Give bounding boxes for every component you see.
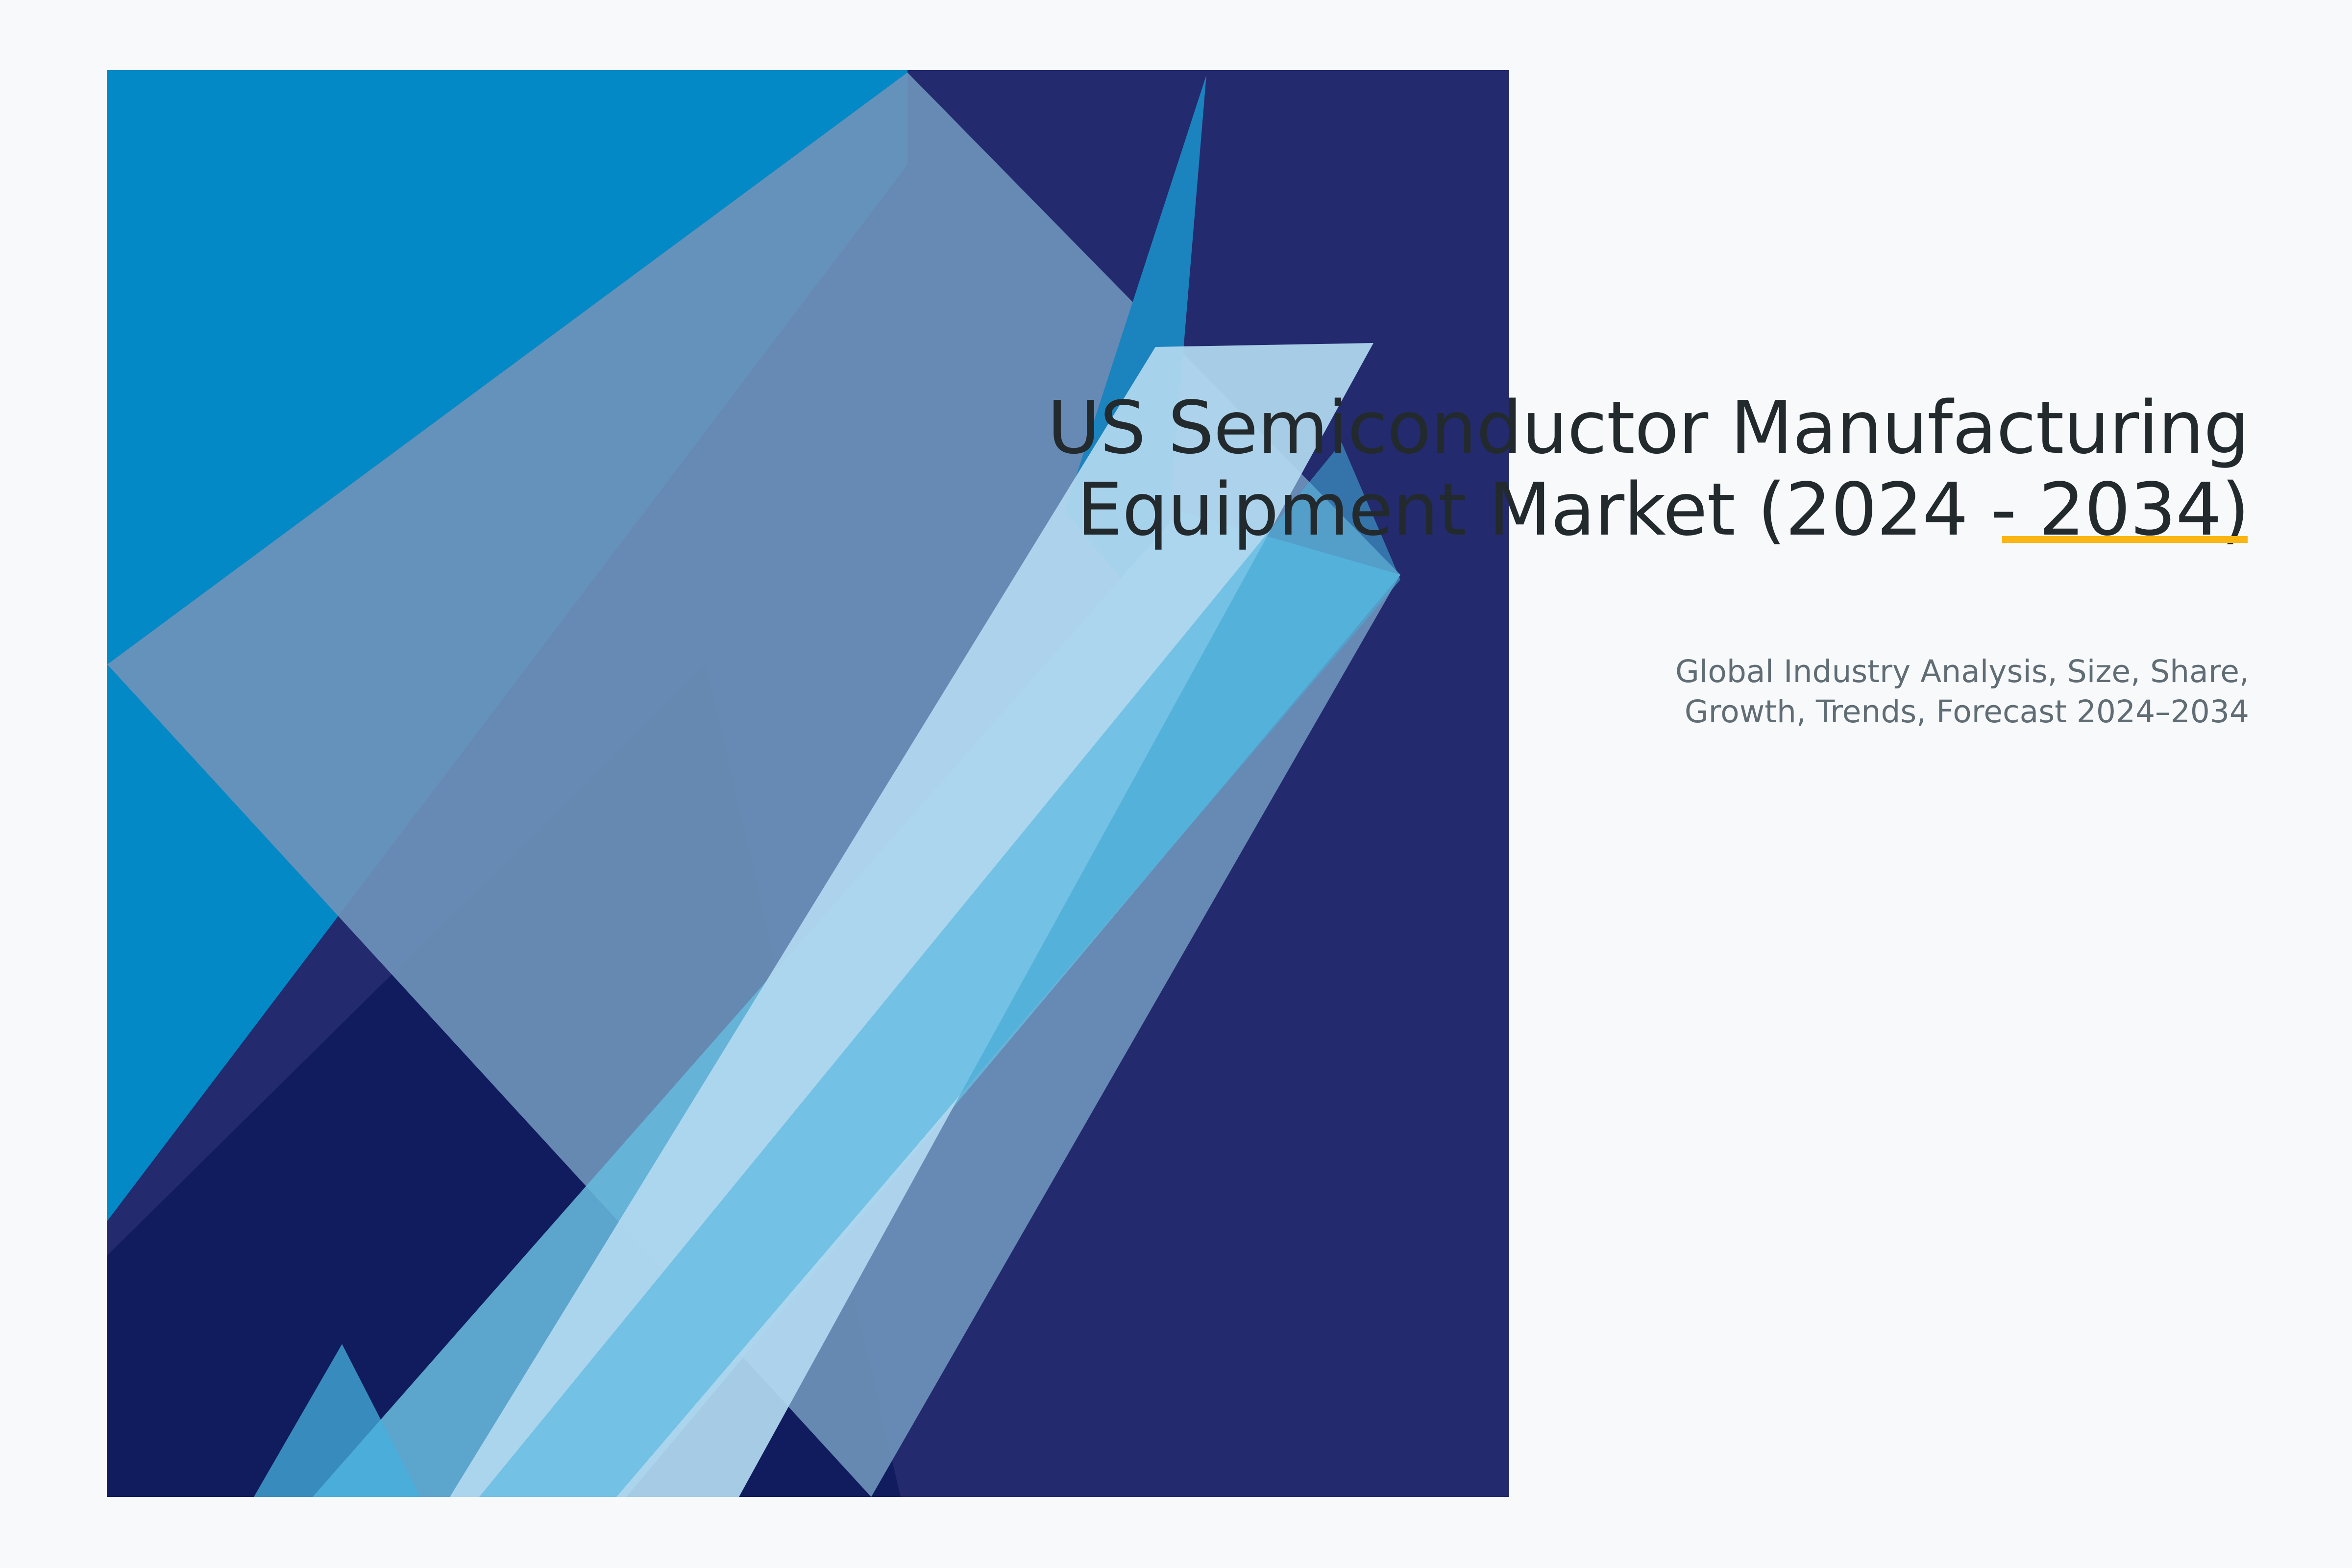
title-accent-underline — [2002, 536, 2248, 543]
title-block: US Semiconductor Manufacturing Equipment… — [931, 387, 2249, 551]
page-title: US Semiconductor Manufacturing Equipment… — [931, 387, 2249, 551]
page-subtitle: Global Industry Analysis, Size, Share, G… — [1421, 652, 2249, 732]
report-cover-page: US Semiconductor Manufacturing Equipment… — [0, 0, 2352, 1568]
geometric-artwork-svg — [107, 70, 1509, 1497]
cover-artwork — [107, 70, 1509, 1497]
